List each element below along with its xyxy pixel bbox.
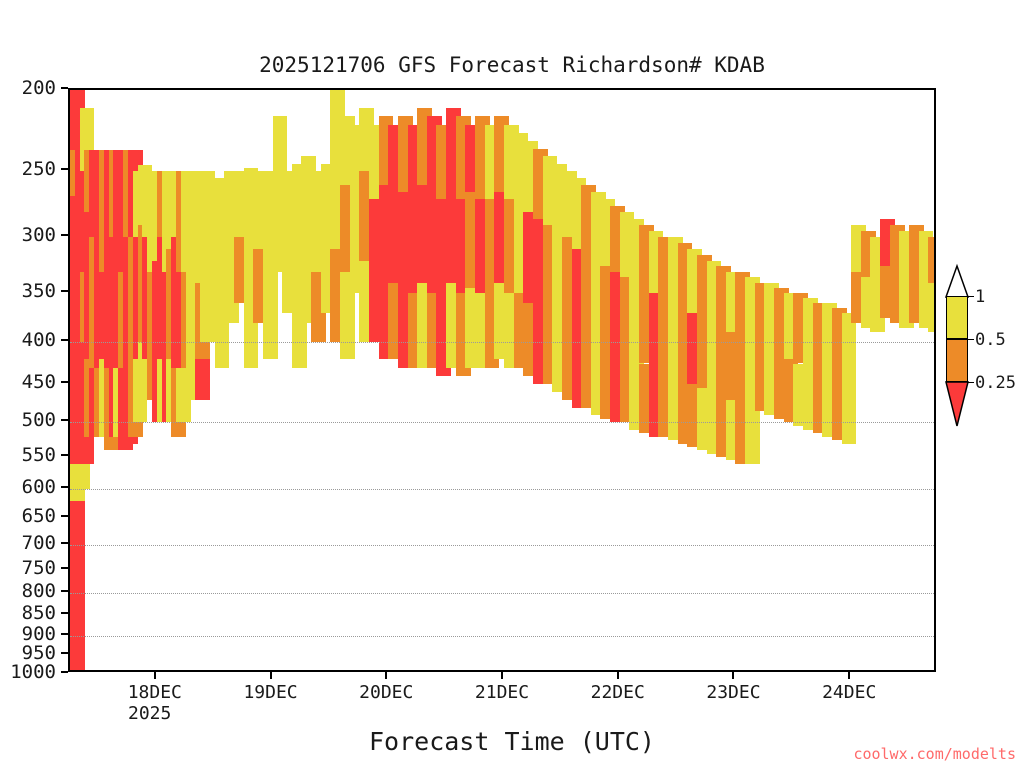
watermark: coolwx.com/modelts (853, 745, 1016, 763)
colorbar-tick-label: 0.5 (975, 330, 1006, 350)
plot-area (68, 88, 936, 672)
x-tick (385, 672, 387, 679)
colorbar-tick (968, 296, 974, 297)
y-tick (61, 515, 68, 517)
x-tick-label: 22DEC (570, 682, 666, 703)
y-tick-label: 550 (0, 444, 56, 466)
x-tick-label: 18DEC (107, 682, 203, 703)
x-tick-label: 24DEC (801, 682, 897, 703)
y-tick (61, 567, 68, 569)
colorbar-tick (968, 382, 974, 383)
y-tick-label: 800 (0, 580, 56, 602)
chart-canvas: 2025121706 GFS Forecast Richardson# KDAB… (0, 0, 1024, 768)
colorbar-tick (968, 339, 974, 340)
y-tick (61, 454, 68, 456)
y-tick-label: 650 (0, 505, 56, 527)
y-tick-label: 850 (0, 602, 56, 624)
y-tick-label: 400 (0, 329, 56, 351)
heatmap-cell (215, 323, 230, 368)
y-tick (61, 381, 68, 383)
y-tick (61, 652, 68, 654)
y-tick-label: 300 (0, 224, 56, 246)
x-tick-label: 20DEC (338, 682, 434, 703)
colorbar-cap-lower (946, 382, 968, 426)
y-tick (61, 339, 68, 341)
heatmap-cell (928, 237, 936, 282)
y-tick (61, 290, 68, 292)
y-tick (61, 87, 68, 89)
heatmap-cell (842, 384, 857, 443)
y-tick-label: 250 (0, 158, 56, 180)
y-tick (61, 612, 68, 614)
y-tick (61, 419, 68, 421)
y-tick (61, 168, 68, 170)
heatmap-cell (745, 408, 760, 464)
y-tick (61, 234, 68, 236)
y-tick-label: 700 (0, 532, 56, 554)
colorbar: 10.50.25 (944, 296, 972, 468)
y-tick-label: 450 (0, 371, 56, 393)
y-tick (61, 486, 68, 488)
colorbar-tick-label: 0.25 (975, 373, 1016, 393)
heatmap-cell (195, 359, 210, 400)
y-tick-label: 600 (0, 476, 56, 498)
x-tick (848, 672, 850, 679)
chart-title: 2025121706 GFS Forecast Richardson# KDAB (0, 53, 1024, 77)
x-tick (617, 672, 619, 679)
y-tick-label: 1000 (0, 661, 56, 683)
heatmap-cell (263, 261, 278, 360)
x-tick (732, 672, 734, 679)
colorbar-tick-label: 1 (975, 287, 985, 307)
x-tick-label: 21DEC (454, 682, 550, 703)
x-axis-year-label: 2025 (128, 703, 171, 724)
y-tick (61, 633, 68, 635)
x-tick (154, 672, 156, 679)
heatmap-cell (842, 313, 857, 384)
y-tick (61, 671, 68, 673)
colorbar-cap-upper-outline (946, 266, 968, 297)
colorbar-segment-orange (946, 339, 968, 382)
heatmap-cell (75, 464, 90, 489)
y-tick-label: 350 (0, 280, 56, 302)
heatmap-cells (70, 90, 934, 670)
y-tick (61, 590, 68, 592)
x-tick (501, 672, 503, 679)
y-tick-label: 200 (0, 77, 56, 99)
x-tick-label: 23DEC (685, 682, 781, 703)
y-tick (61, 542, 68, 544)
x-tick (270, 672, 272, 679)
y-tick-label: 500 (0, 409, 56, 431)
colorbar-segment-yellow (946, 296, 968, 339)
heatmap-cell (928, 283, 936, 333)
x-tick-label: 19DEC (223, 682, 319, 703)
y-tick-label: 750 (0, 557, 56, 579)
